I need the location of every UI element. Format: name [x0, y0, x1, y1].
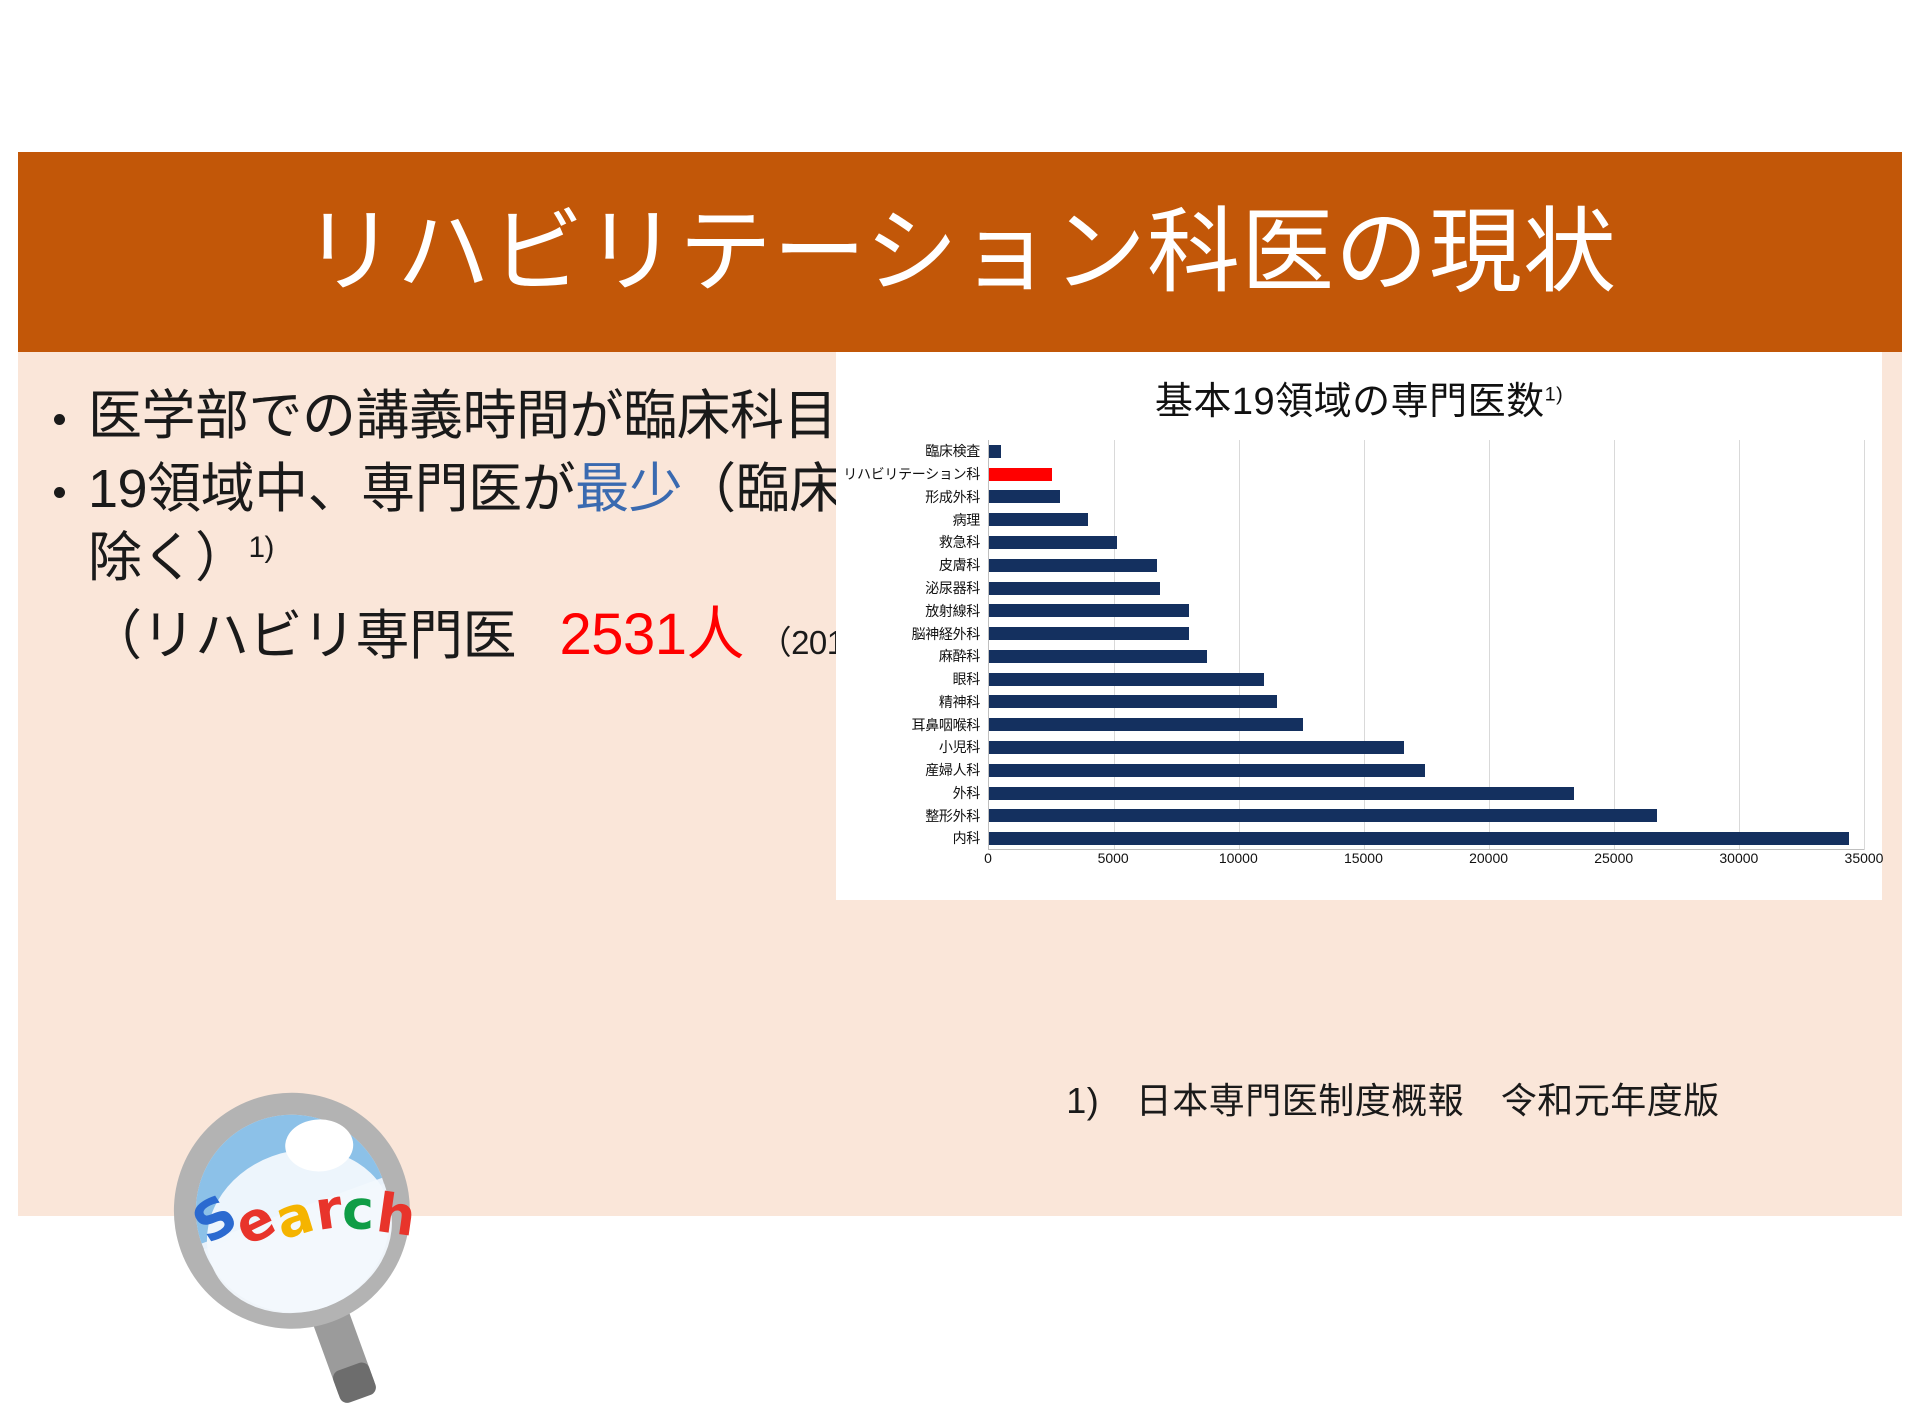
- chart-bar-row: [989, 486, 1864, 509]
- chart-category-label: 脳神経外科: [836, 627, 988, 641]
- bullet-2-superscript: 1): [249, 531, 274, 564]
- chart-plot-area: [988, 440, 1864, 850]
- chart-bar-row: [989, 577, 1864, 600]
- chart-bar: [989, 650, 1207, 663]
- bullet-1-prefix: 医学部での講義時間が臨床科目中: [88, 386, 891, 446]
- bullet-2-highlight: 最少: [575, 459, 682, 519]
- chart-bar: [989, 695, 1277, 708]
- rehab-count-lead: （リハビリ専門医: [88, 606, 516, 666]
- chart-category-label: 整形外科: [836, 809, 988, 823]
- chart-x-tick-label: 25000: [1594, 850, 1633, 866]
- chart-bar: [989, 582, 1160, 595]
- chart-bar-row: [989, 759, 1864, 782]
- chart-bar: [989, 627, 1189, 640]
- svg-text:c: c: [342, 1179, 374, 1242]
- chart-bar: [989, 513, 1088, 526]
- chart-category-label: 救急科: [836, 535, 988, 549]
- chart-gridline: [1864, 440, 1865, 850]
- chart-bar-row: [989, 805, 1864, 828]
- bullet-2-prefix: 19領域中、専門医が: [88, 459, 575, 519]
- chart-x-tick-label: 35000: [1845, 850, 1884, 866]
- chart-bar: [989, 673, 1264, 686]
- chart-bar: [989, 741, 1404, 754]
- chart-category-label: 皮膚科: [836, 558, 988, 572]
- chart-bar-row: [989, 554, 1864, 577]
- chart-bars: [989, 440, 1864, 850]
- chart-bar-row: [989, 531, 1864, 554]
- chart-bar: [989, 787, 1574, 800]
- chart-x-tick-label: 5000: [1098, 850, 1129, 866]
- chart-bar-row: [989, 463, 1864, 486]
- chart-bar: [989, 445, 1001, 458]
- chart-category-label: 産婦人科: [836, 763, 988, 777]
- chart-bar: [989, 809, 1657, 822]
- footnote-reference: 1) 日本専門医制度概報 令和元年度版: [918, 1072, 1868, 1124]
- chart-bar-row: [989, 736, 1864, 759]
- chart-bar-row: [989, 622, 1864, 645]
- chart-category-label: 放射線科: [836, 604, 988, 618]
- chart-x-tick-label: 0: [984, 850, 992, 866]
- chart-x-tick-label: 20000: [1469, 850, 1508, 866]
- chart-bar: [989, 490, 1060, 503]
- chart-bar-row: [989, 691, 1864, 714]
- chart-bar: [989, 764, 1425, 777]
- chart-bar: [989, 604, 1189, 617]
- chart-bar: [989, 559, 1157, 572]
- chart-category-label: リハビリテーション科: [836, 467, 988, 481]
- chart-category-label: 眼科: [836, 672, 988, 686]
- chart-category-label: 麻酔科: [836, 649, 988, 663]
- svg-text:h: h: [373, 1181, 420, 1249]
- chart-x-tick-label: 30000: [1719, 850, 1758, 866]
- chart-bar-row: [989, 440, 1864, 463]
- chart-bar-row: [989, 827, 1864, 850]
- chart-bar: [989, 536, 1117, 549]
- chart-category-label: 外科: [836, 786, 988, 800]
- chart-category-label: 小児科: [836, 740, 988, 754]
- rehab-count-number: 2531人: [560, 602, 745, 667]
- chart-x-axis-labels: 05000100001500020000250003000035000: [988, 850, 1864, 876]
- chart-category-axis: 臨床検査リハビリテーション科形成外科病理救急科皮膚科泌尿器科放射線科脳神経外科麻…: [836, 440, 988, 850]
- slide-title-band: リハビリテーション科医の現状: [18, 152, 1902, 352]
- chart-plot-wrapper: 臨床検査リハビリテーション科形成外科病理救急科皮膚科泌尿器科放射線科脳神経外科麻…: [836, 440, 1882, 900]
- chart-category-label: 病理: [836, 513, 988, 527]
- chart-category-label: 耳鼻咽喉科: [836, 718, 988, 732]
- chart-bar-row: [989, 599, 1864, 622]
- chart-title-superscript: 1): [1545, 383, 1564, 405]
- chart-category-label: 泌尿器科: [836, 581, 988, 595]
- chart-bar-row: [989, 713, 1864, 736]
- chart-bar-row: [989, 508, 1864, 531]
- chart-category-label: 内科: [836, 831, 988, 845]
- chart-bar: [989, 832, 1849, 845]
- chart-bar-row: [989, 782, 1864, 805]
- chart-x-tick-label: 15000: [1344, 850, 1383, 866]
- specialists-bar-chart: 基本19領域の専門医数1) 臨床検査リハビリテーション科形成外科病理救急科皮膚科…: [836, 352, 1882, 900]
- slide: リハビリテーション科医の現状 医学部での講義時間が臨床科目中最少 19領域中、専…: [18, 152, 1902, 1216]
- chart-title: 基本19領域の専門医数1): [836, 352, 1882, 425]
- chart-bar-row: [989, 645, 1864, 668]
- chart-category-label: 精神科: [836, 695, 988, 709]
- chart-category-label: 臨床検査: [836, 444, 988, 458]
- chart-bar-row: [989, 668, 1864, 691]
- chart-bar-highlighted: [989, 468, 1052, 481]
- chart-bar: [989, 718, 1303, 731]
- chart-x-tick-label: 10000: [1219, 850, 1258, 866]
- chart-title-text: 基本19領域の専門医数: [1155, 381, 1545, 423]
- magnifying-glass-icon: S e a r c h: [131, 1082, 461, 1422]
- page-title: リハビリテーション科医の現状: [303, 206, 1617, 299]
- chart-category-label: 形成外科: [836, 490, 988, 504]
